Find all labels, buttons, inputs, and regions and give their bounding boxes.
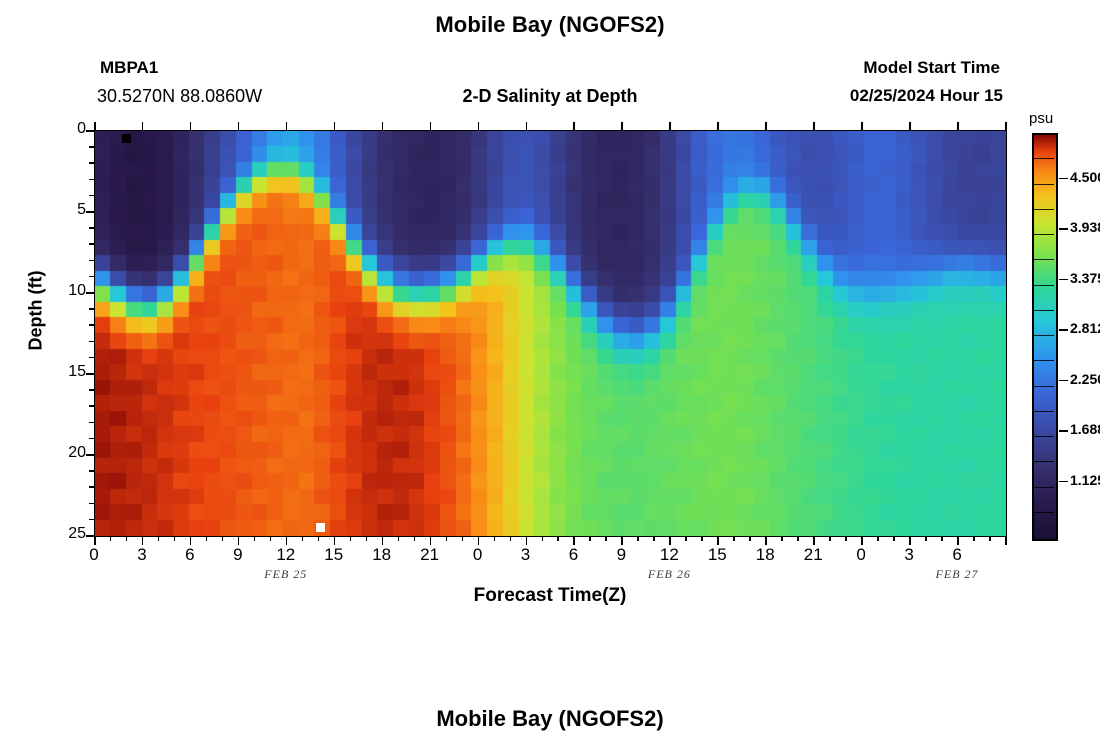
y-minor-tick [89,422,94,424]
x-axis-tick-label: 15 [697,545,737,565]
x-minor-tick [781,537,783,541]
colorbar-tick [1059,380,1068,382]
x-minor-tick [877,537,879,541]
y-minor-tick [89,324,94,326]
x-major-tick [238,537,240,545]
y-minor-tick [89,503,94,505]
colorbar-tick [1059,228,1068,230]
x-major-tick [813,537,815,545]
x-minor-tick [605,537,607,541]
x-major-tick [382,537,384,545]
colorbar-band-divider [1032,386,1054,387]
x-major-tick [334,537,336,545]
colorbar-tick [1059,481,1068,483]
colorbar-tick-label: 3.375 [1070,270,1100,286]
x-axis-tick-label: 18 [745,545,785,565]
x-axis-tick-label: 0 [74,545,114,565]
x-major-tick [621,537,623,545]
y-minor-tick [89,341,94,343]
y-minor-tick [89,195,94,197]
colorbar-band-divider [1032,285,1054,286]
x-minor-tick [925,537,927,541]
bottom-marker [316,523,325,532]
y-axis-tick-label: 0 [46,120,86,138]
x-major-tick [142,537,144,545]
x-major-tick [765,537,767,545]
x-axis-date-label: FEB 26 [609,567,729,582]
x-major-tick-top [669,122,671,130]
x-minor-tick [557,537,559,541]
colorbar-tick-label: 1.688 [1070,421,1100,437]
y-major-tick [86,373,94,375]
x-minor-tick [222,537,224,541]
x-minor-tick [414,537,416,541]
y-axis-tick-label: 10 [46,282,86,300]
x-axis-tick-label: 3 [889,545,929,565]
x-minor-tick [462,537,464,541]
x-minor-tick [398,537,400,541]
x-minor-tick [733,537,735,541]
y-minor-tick [89,179,94,181]
model-start-time-label: Model Start Time [863,58,1000,78]
x-minor-tick [446,537,448,541]
colorbar-band-divider [1032,512,1054,513]
x-minor-tick [893,537,895,541]
x-axis-tick-label: 12 [266,545,306,565]
x-major-tick-top [94,122,96,130]
x-minor-tick [749,537,751,541]
y-minor-tick [89,260,94,262]
x-major-tick-top [190,122,192,130]
x-minor-tick [366,537,368,541]
y-axis-tick-label: 25 [46,525,86,543]
x-minor-tick [685,537,687,541]
y-minor-tick [89,276,94,278]
colorbar-tick [1059,329,1068,331]
y-minor-tick [89,519,94,521]
salinity-heatmap-canvas [95,131,1006,536]
x-axis-tick-label: 3 [122,545,162,565]
page-title-bottom: Mobile Bay (NGOFS2) [0,706,1100,732]
y-major-tick [86,130,94,132]
x-major-tick-top [238,122,240,130]
colorbar-tick [1059,430,1068,432]
x-minor-tick [158,537,160,541]
x-minor-tick [494,537,496,541]
colorbar-band-divider [1032,310,1054,311]
x-major-tick-top [526,122,528,130]
x-axis-tick-label: 15 [314,545,354,565]
x-major-tick-top [382,122,384,130]
x-axis-title: Forecast Time(Z) [0,585,1100,607]
x-minor-tick [110,537,112,541]
x-major-tick-top [430,122,432,130]
x-major-tick [957,537,959,545]
x-major-tick-top [286,122,288,130]
colorbar-band-divider [1032,461,1054,462]
x-major-tick-top [1005,122,1007,130]
x-axis-tick-label: 21 [793,545,833,565]
page-title-top: Mobile Bay (NGOFS2) [0,12,1100,38]
x-minor-tick [542,537,544,541]
x-minor-tick [845,537,847,541]
x-minor-tick [797,537,799,541]
x-minor-tick [302,537,304,541]
y-minor-tick [89,405,94,407]
surface-marker [122,134,131,143]
x-axis-tick-label: 9 [218,545,258,565]
x-axis-tick-label: 9 [601,545,641,565]
y-minor-tick [89,227,94,229]
x-major-tick [717,537,719,545]
colorbar-tick [1059,279,1068,281]
y-minor-tick [89,243,94,245]
x-minor-tick [174,537,176,541]
colorbar-band-divider [1032,360,1054,361]
x-minor-tick [206,537,208,541]
x-major-tick-top [334,122,336,130]
x-axis-tick-label: 12 [649,545,689,565]
station-id: MBPA1 [100,58,158,78]
x-major-tick-top [717,122,719,130]
x-axis-tick-label: 6 [937,545,977,565]
x-minor-tick [653,537,655,541]
y-minor-tick [89,486,94,488]
colorbar-tick-label: 2.250 [1070,371,1100,387]
colorbar-band-divider [1032,487,1054,488]
y-major-tick [86,292,94,294]
x-minor-tick [254,537,256,541]
colorbar-tick-label: 2.812 [1070,320,1100,336]
colorbar-tick-label: 3.938 [1070,219,1100,235]
chart-page: Mobile Bay (NGOFS2) MBPA1 30.5270N 88.08… [0,0,1100,750]
y-axis-title: Depth (ft) [26,231,47,391]
y-axis-tick-label: 15 [46,363,86,381]
colorbar-canvas [1034,135,1056,539]
x-axis-tick-label: 21 [410,545,450,565]
x-minor-tick [510,537,512,541]
x-major-tick [909,537,911,545]
y-minor-tick [89,308,94,310]
y-minor-tick [89,438,94,440]
x-minor-tick [350,537,352,541]
colorbar-band-divider [1032,209,1054,210]
x-minor-tick [637,537,639,541]
y-axis-tick-label: 5 [46,201,86,219]
model-start-time-value: 02/25/2024 Hour 15 [850,86,1003,106]
x-major-tick-top [909,122,911,130]
x-major-tick [861,537,863,545]
colorbar-tick-label: 4.500 [1070,169,1100,185]
x-major-tick-top [765,122,767,130]
x-axis-tick-label: 3 [506,545,546,565]
colorbar-tick-label: 1.125 [1070,472,1100,488]
colorbar-band-divider [1032,411,1054,412]
x-minor-tick [589,537,591,541]
x-axis-tick-label: 18 [362,545,402,565]
x-minor-tick [941,537,943,541]
x-minor-tick [829,537,831,541]
x-major-tick [94,537,96,545]
y-major-tick [86,211,94,213]
x-major-tick [669,537,671,545]
x-axis-tick-label: 0 [458,545,498,565]
x-minor-tick [126,537,128,541]
x-major-tick [430,537,432,545]
colorbar [1032,133,1058,541]
x-major-tick [526,537,528,545]
x-major-tick [190,537,192,545]
x-axis-date-label: FEB 25 [226,567,346,582]
x-major-tick [478,537,480,545]
y-minor-tick [89,470,94,472]
colorbar-band-divider [1032,335,1054,336]
y-minor-tick [89,389,94,391]
colorbar-band-divider [1032,158,1054,159]
heatmap-plot-area [94,130,1007,537]
x-minor-tick [270,537,272,541]
y-major-tick [86,454,94,456]
x-major-tick-top [861,122,863,130]
x-minor-tick [973,537,975,541]
x-axis-date-label: FEB 27 [897,567,1017,582]
colorbar-band-divider [1032,234,1054,235]
y-major-tick [86,535,94,537]
x-minor-tick [701,537,703,541]
x-major-tick [1005,537,1007,545]
colorbar-band-divider [1032,259,1054,260]
x-major-tick-top [621,122,623,130]
x-major-tick-top [957,122,959,130]
x-minor-tick [318,537,320,541]
x-major-tick-top [142,122,144,130]
x-major-tick-top [573,122,575,130]
colorbar-band-divider [1032,184,1054,185]
y-axis-tick-label: 20 [46,444,86,462]
colorbar-tick [1059,178,1068,180]
x-major-tick-top [478,122,480,130]
x-major-tick [286,537,288,545]
x-minor-tick [989,537,991,541]
x-axis-tick-label: 6 [553,545,593,565]
colorbar-unit-label: psu [1029,110,1053,127]
x-axis-tick-label: 0 [841,545,881,565]
y-minor-tick [89,146,94,148]
y-minor-tick [89,357,94,359]
x-axis-tick-label: 6 [170,545,210,565]
x-major-tick [573,537,575,545]
y-minor-tick [89,162,94,164]
colorbar-band-divider [1032,436,1054,437]
x-major-tick-top [813,122,815,130]
